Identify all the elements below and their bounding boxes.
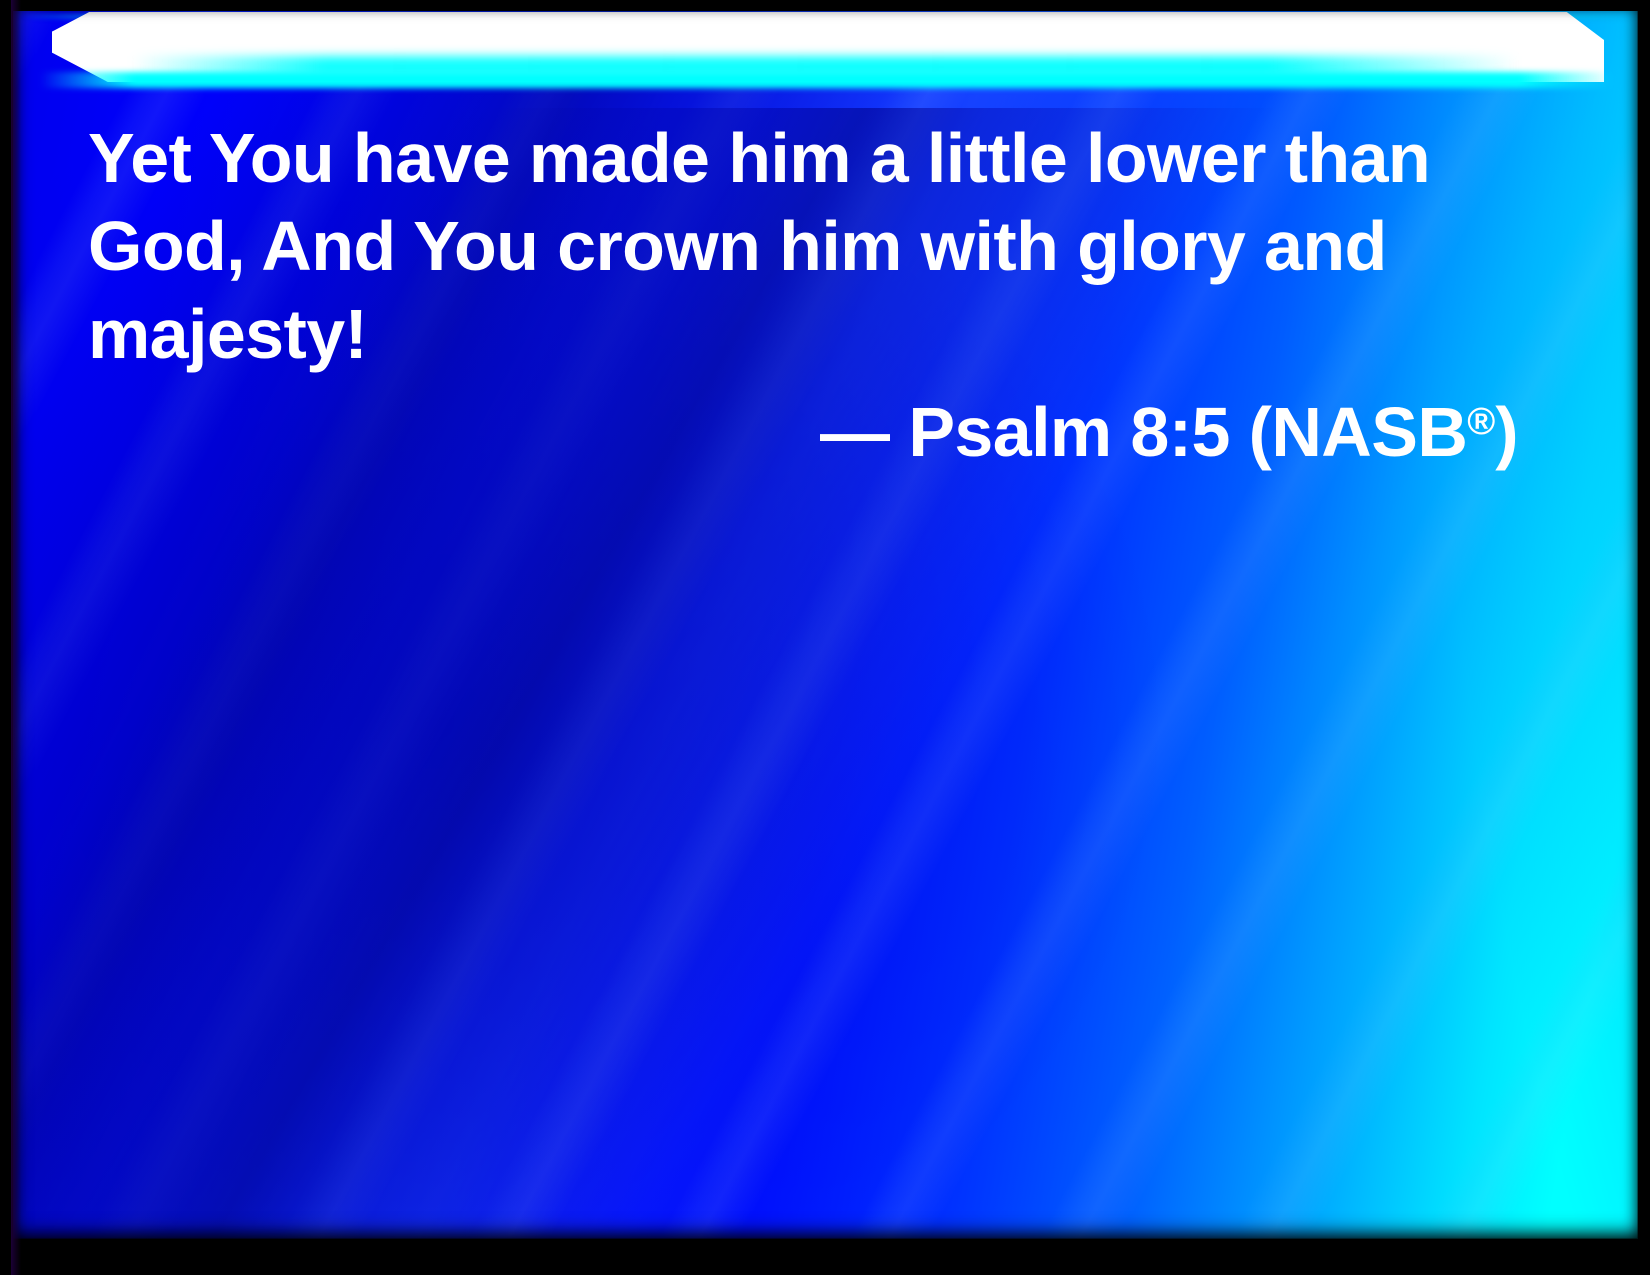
verse-reference: — Psalm 8:5 (NASB®) <box>88 378 1518 476</box>
registered-trademark-icon: ® <box>1467 401 1495 443</box>
slide-canvas: Yet You have made him a little lower tha… <box>12 10 1638 1239</box>
frame-left-tint <box>11 0 21 1275</box>
frame-border-right <box>1638 0 1650 1275</box>
reference-label: Psalm 8:5 (NASB <box>908 393 1467 471</box>
verse-text: Yet You have made him a little lower tha… <box>88 114 1508 378</box>
reference-dash: — <box>820 393 889 471</box>
frame-border-top <box>0 0 1650 11</box>
text-layer: Yet You have made him a little lower tha… <box>12 10 1638 1239</box>
reference-close: ) <box>1495 393 1518 471</box>
frame-border-bottom <box>0 1239 1650 1275</box>
scripture-slide: Yet You have made him a little lower tha… <box>0 0 1650 1275</box>
